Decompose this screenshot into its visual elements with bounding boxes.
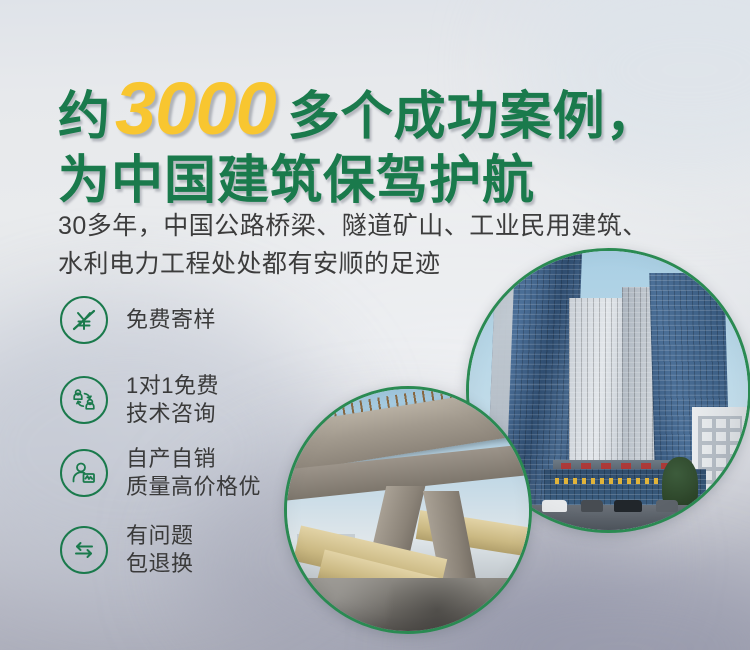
headline-block: 约 3000 多个成功案例， 为中国建筑保驾护航	[58, 72, 659, 209]
feature-item-consultation[interactable]: 1对1免费 技术咨询	[60, 372, 261, 427]
headline-line-2: 为中国建筑保驾护航	[58, 154, 659, 209]
feature-list: 免费寄样 1对1免费 技术咨询	[60, 296, 261, 595]
self-production-icon	[60, 449, 108, 497]
construction-ground	[287, 578, 529, 631]
feature-item-free-sample[interactable]: 免费寄样	[60, 296, 261, 344]
promo-banner: 约 3000 多个成功案例， 为中国建筑保驾护航 30多年，中国公路桥梁、隧道矿…	[0, 0, 750, 650]
feature-label: 免费寄样	[126, 306, 216, 334]
feature-line: 技术咨询	[126, 401, 216, 426]
headline-number: 3000	[111, 72, 282, 146]
return-exchange-icon	[60, 526, 108, 574]
feature-line: 免费寄样	[126, 307, 216, 332]
feature-line: 质量高价格优	[126, 474, 261, 499]
feature-line: 包退换	[126, 551, 194, 576]
one-on-one-consult-icon	[60, 376, 108, 424]
headline-prefix: 约	[58, 91, 111, 143]
feature-item-self-production[interactable]: 自产自销 质量高价格优	[60, 445, 261, 500]
feature-label: 1对1免费 技术咨询	[126, 372, 219, 427]
feature-line: 有问题	[126, 523, 194, 548]
feature-label: 有问题 包退换	[126, 522, 194, 577]
subtitle-block: 30多年，中国公路桥梁、隧道矿山、工业民用建筑、 水利电力工程处处都有安顺的足迹	[58, 208, 648, 285]
free-sample-icon	[60, 296, 108, 344]
headline-suffix: 多个成功案例，	[288, 91, 659, 143]
car	[542, 500, 567, 512]
car	[581, 500, 603, 512]
bridge-photo	[284, 386, 532, 634]
feature-line: 1对1免费	[126, 373, 219, 398]
car	[656, 500, 678, 512]
headline-line-1: 约 3000 多个成功案例，	[58, 72, 659, 146]
feature-item-return-exchange[interactable]: 有问题 包退换	[60, 522, 261, 577]
feature-line: 自产自销	[126, 446, 216, 471]
bridge-scene	[287, 389, 529, 631]
car	[614, 500, 642, 512]
subtitle-line-2: 水利电力工程处处都有安顺的足迹	[58, 246, 648, 282]
feature-label: 自产自销 质量高价格优	[126, 445, 261, 500]
subtitle-line-1: 30多年，中国公路桥梁、隧道矿山、工业民用建筑、	[58, 208, 648, 244]
